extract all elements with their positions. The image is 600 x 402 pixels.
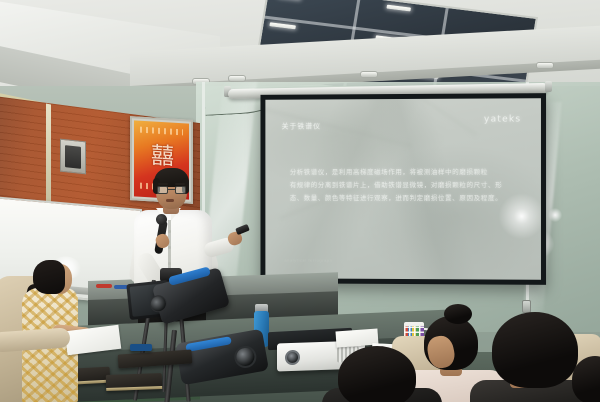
slide-title: 关于铁谱仪 <box>282 121 321 131</box>
camcorder-lens <box>233 344 258 369</box>
slide-body-text: 分析铁谱仪，是利用高梯度磁场作用，将被测油样中的磨损颗粒 有规律的分离到铁谱片上… <box>290 167 524 205</box>
presenter-eyeglasses <box>157 186 186 194</box>
projector-hotspot-glare <box>498 193 541 239</box>
ceiling-downlight <box>536 62 554 69</box>
small-device <box>130 344 152 351</box>
slide-body-line: 态、数量、颜色等特征进行观察，进而判定磨损位置、原因及程度。 <box>290 193 524 206</box>
stacked-notebooks <box>106 373 163 391</box>
screen-roller-cap <box>545 81 552 92</box>
slide-body-line: 有规律的分离到铁谱片上，借助铁谱显微镜，对磨损颗粒的尺寸、形 <box>290 180 524 193</box>
ceiling-downlight <box>228 75 246 82</box>
ceiling-downlight <box>360 71 378 78</box>
skylight-tube-light <box>386 5 411 12</box>
wall-plaque <box>60 139 86 175</box>
projection-screen: 关于铁谱仪 yateks 分析铁谱仪，是利用高梯度磁场作用，将被测油样中的磨损颗… <box>260 93 546 285</box>
poster-calligraphy: 囍 <box>151 145 172 169</box>
slide-logo: yateks <box>484 115 521 125</box>
whiteboard-marker <box>96 284 112 288</box>
audience-hair <box>492 312 578 388</box>
seated-woman-hair <box>33 260 65 294</box>
audience-hair-bun <box>444 304 472 324</box>
glass-light-flare <box>548 208 562 222</box>
audience-hair <box>338 346 416 402</box>
presenter-mouth <box>166 199 174 202</box>
skylight-tube-light <box>269 22 296 29</box>
conference-room-photo: 囍 关于铁谱仪 yateks 分析铁谱仪，是利用高梯度磁场作用，将被测油样中的磨… <box>0 0 600 402</box>
microphone-head <box>156 214 167 225</box>
glass-panel-clip <box>522 300 531 313</box>
slide-footer: analytical ferrograph <box>284 257 332 262</box>
projector-lens <box>285 350 300 366</box>
slide-body-line: 分析铁谱仪，是利用高梯度磁场作用，将被测油样中的磨损颗粒 <box>290 167 524 180</box>
